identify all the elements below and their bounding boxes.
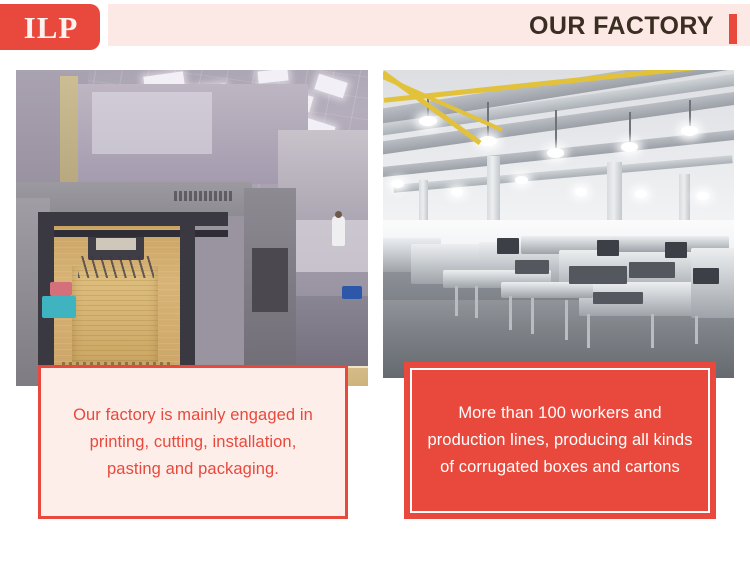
- machine-leg: [509, 296, 512, 330]
- machine-leg: [651, 314, 654, 348]
- conveyor-table: [501, 282, 593, 298]
- machine-leg: [587, 314, 590, 348]
- worker-head: [335, 211, 342, 218]
- corridor-shelf: [284, 220, 368, 272]
- page-title: OUR FACTORY: [529, 13, 714, 39]
- light-stem: [689, 100, 691, 128]
- production-line-photo: [383, 70, 734, 378]
- machine-leg: [455, 286, 458, 316]
- caption-left-text: Our factory is mainly engaged in printin…: [63, 402, 323, 483]
- suction-arms: [78, 256, 154, 278]
- machine-body: [629, 262, 675, 278]
- press-panel-dark: [252, 248, 288, 312]
- control-panel: [693, 268, 719, 284]
- pendant-light-icon: [681, 126, 698, 136]
- pink-object: [50, 282, 72, 296]
- machine-leg: [475, 286, 478, 318]
- pendant-light-icon: [635, 190, 647, 198]
- title-accent-bar: [729, 14, 737, 44]
- pendant-light-icon: [419, 116, 437, 126]
- press-brand-label: [174, 191, 234, 201]
- press-frame-top: [38, 212, 228, 226]
- caption-right: More than 100 workers and production lin…: [404, 362, 716, 519]
- worker-figure: [332, 216, 345, 246]
- control-panel: [597, 240, 619, 256]
- light-stem: [555, 110, 557, 150]
- pendant-light-icon: [621, 142, 638, 152]
- machine-leg: [531, 298, 534, 334]
- machine-body: [593, 292, 643, 304]
- light-stem: [487, 102, 489, 138]
- press-frame-bar: [38, 230, 228, 237]
- page-header: ILP OUR FACTORY: [0, 4, 750, 46]
- pendant-light-icon: [515, 176, 528, 184]
- pendant-light-icon: [575, 188, 587, 196]
- machine-body: [515, 260, 549, 274]
- light-stem: [629, 112, 631, 144]
- wall-column: [60, 76, 78, 186]
- caption-right-text: More than 100 workers and production lin…: [425, 400, 695, 481]
- logo-text: ILP: [22, 12, 79, 43]
- caption-left: Our factory is mainly engaged in printin…: [38, 365, 348, 519]
- paper-stack-lines: [72, 266, 158, 366]
- pendant-light-icon: [697, 192, 709, 200]
- teal-bin: [42, 296, 76, 318]
- printing-press-photo: [16, 70, 368, 386]
- press-frame-right: [180, 212, 195, 386]
- pendant-light-icon: [547, 148, 564, 158]
- machine-leg: [565, 300, 568, 340]
- control-panel: [665, 242, 687, 258]
- pendant-light-icon: [479, 136, 497, 146]
- factory-page: ILP OUR FACTORY: [0, 0, 750, 584]
- background-window: [92, 92, 212, 154]
- pendant-light-icon: [391, 180, 404, 188]
- feeder-head-face: [96, 238, 136, 250]
- machine-body: [569, 266, 627, 284]
- blue-crate: [342, 286, 362, 299]
- pendant-light-icon: [451, 188, 463, 196]
- machine-leg: [695, 316, 698, 344]
- logo-badge[interactable]: ILP: [0, 4, 100, 50]
- control-panel: [497, 238, 519, 254]
